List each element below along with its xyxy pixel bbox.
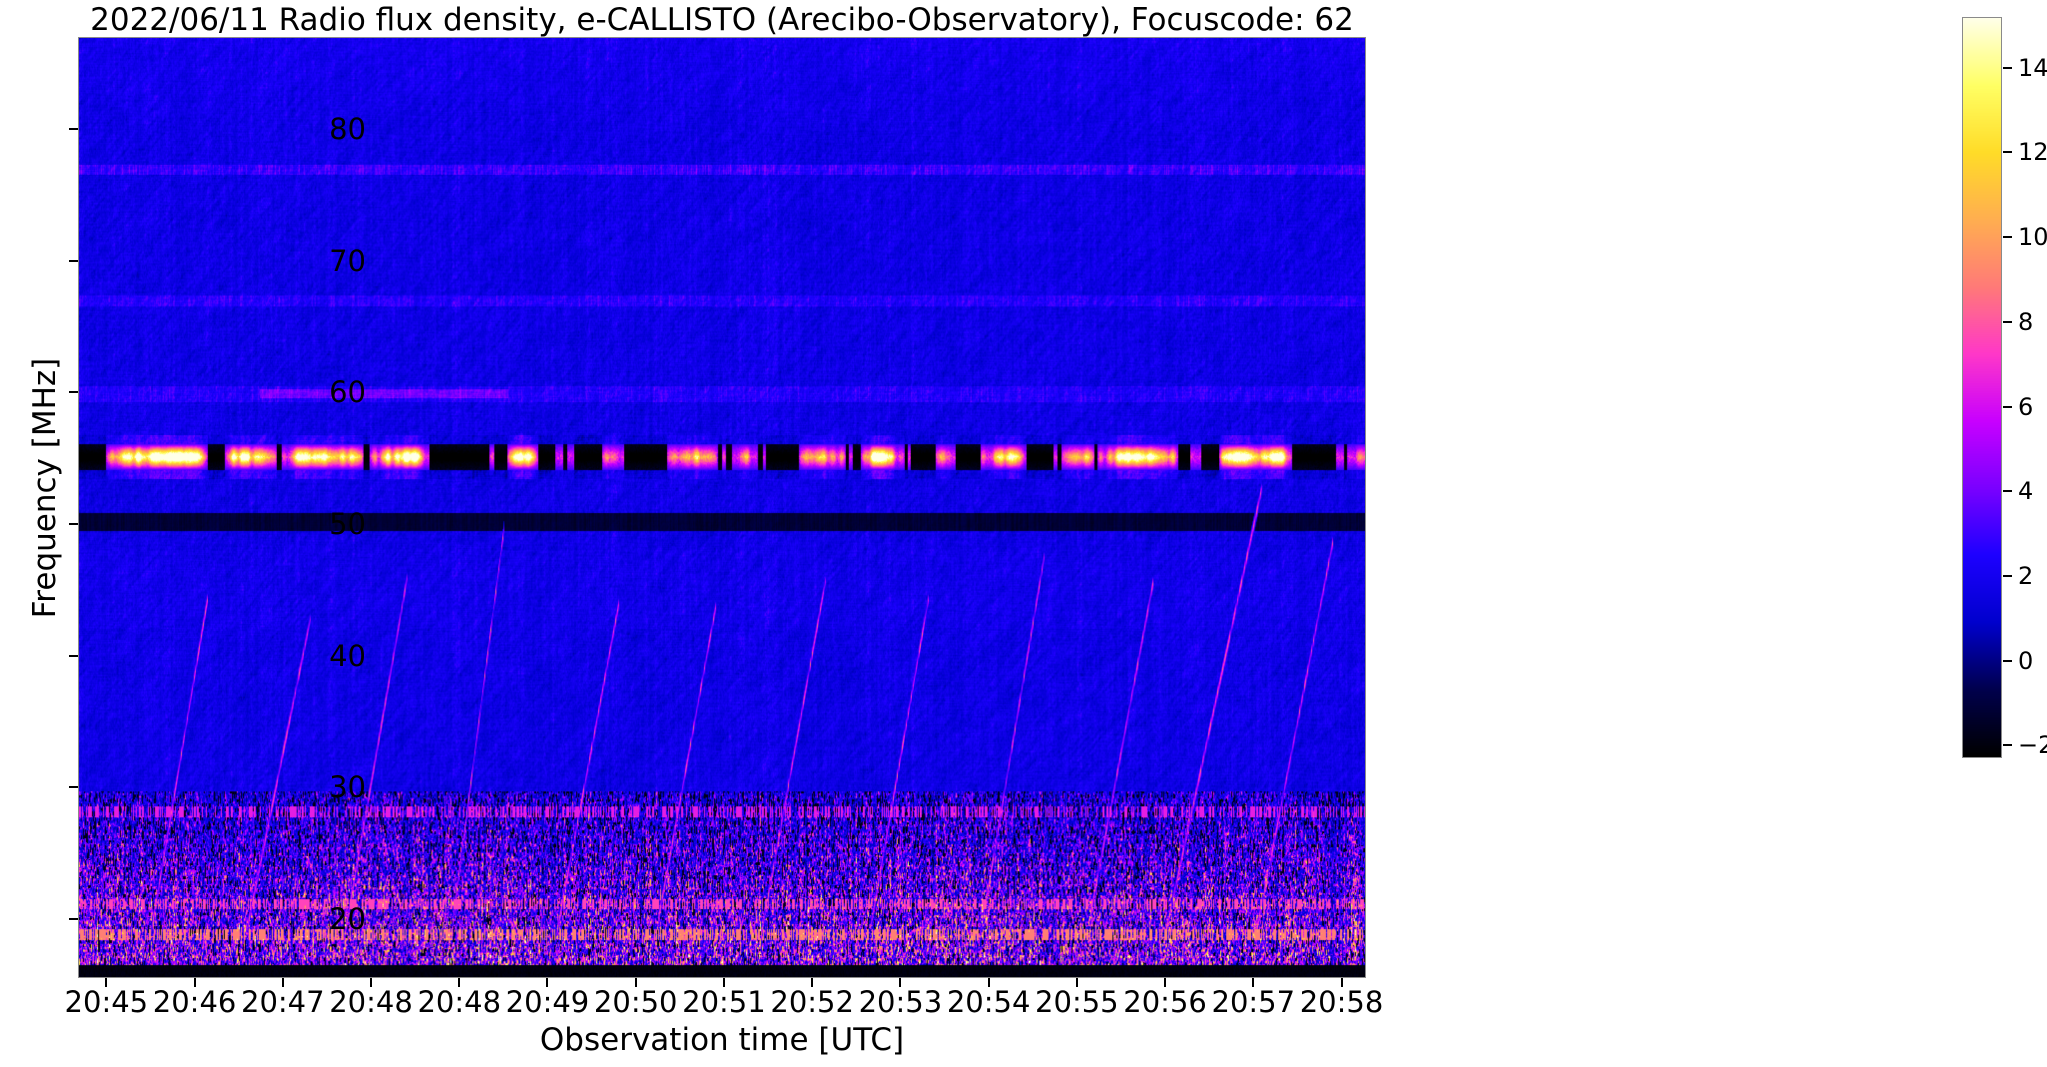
x-axis-tick-label: 20:52 <box>770 985 854 1019</box>
x-axis-tick-mark <box>723 978 725 987</box>
y-axis-tick-mark <box>69 655 78 657</box>
colorbar-tick-label: 14 <box>2018 54 2047 82</box>
x-axis-tick-label: 20:54 <box>947 985 1031 1019</box>
x-axis-tick-label: 20:57 <box>1212 985 1296 1019</box>
y-axis-label: Frequency [MHz] <box>27 0 63 988</box>
x-axis-tick-mark <box>988 978 990 987</box>
x-axis-label: Observation time [UTC] <box>78 1022 1366 1058</box>
spectrogram-figure: 2022/06/11 Radio flux density, e-CALLIST… <box>0 0 2047 1067</box>
x-axis-tick-label: 20:58 <box>1300 985 1384 1019</box>
colorbar-tick-mark <box>2003 744 2012 746</box>
colorbar-tick-mark <box>2003 490 2012 492</box>
colorbar-tick-label: 4 <box>2018 477 2033 505</box>
y-axis-tick-label: 40 <box>329 639 366 673</box>
x-axis-tick-label: 20:55 <box>1035 985 1119 1019</box>
figure-title: 2022/06/11 Radio flux density, e-CALLIST… <box>0 2 1444 38</box>
colorbar-tick-label: 0 <box>2018 647 2033 675</box>
x-axis-tick-mark <box>1341 978 1343 987</box>
x-axis-tick-mark <box>811 978 813 987</box>
y-axis-tick-label: 80 <box>329 112 366 146</box>
x-axis-tick-mark <box>635 978 637 987</box>
x-axis-tick-mark <box>546 978 548 987</box>
colorbar-tick-label: 2 <box>2018 562 2033 590</box>
x-axis-tick-label: 20:49 <box>506 985 590 1019</box>
colorbar: −202468101214 <box>1962 17 2002 758</box>
y-axis-tick-label: 60 <box>329 375 366 409</box>
colorbar-tick-label: −2 <box>2018 731 2047 759</box>
y-axis-tick-label: 50 <box>329 507 366 541</box>
colorbar-tick-label: 10 <box>2018 223 2047 251</box>
colorbar-tick-label: 6 <box>2018 393 2033 421</box>
x-axis-tick-label: 20:48 <box>329 985 413 1019</box>
x-axis-tick-label: 20:48 <box>417 985 501 1019</box>
x-axis-tick-mark <box>105 978 107 987</box>
colorbar-tick-mark <box>2003 151 2012 153</box>
colorbar-gradient <box>1962 17 2002 758</box>
spectrogram-plot-area[interactable] <box>78 37 1366 978</box>
colorbar-tick-mark <box>2003 575 2012 577</box>
y-axis-tick-mark <box>69 391 78 393</box>
y-axis-tick-label: 70 <box>329 244 366 278</box>
colorbar-tick-mark <box>2003 660 2012 662</box>
y-axis-tick-mark <box>69 918 78 920</box>
x-axis-tick-label: 20:56 <box>1123 985 1207 1019</box>
colorbar-tick-mark <box>2003 406 2012 408</box>
x-axis-tick-mark <box>282 978 284 987</box>
x-axis-tick-label: 20:47 <box>241 985 325 1019</box>
y-axis-tick-label: 20 <box>329 902 366 936</box>
x-axis-tick-mark <box>1252 978 1254 987</box>
spectrogram-image <box>79 38 1365 977</box>
x-axis-tick-label: 20:53 <box>859 985 943 1019</box>
x-axis-tick-mark <box>370 978 372 987</box>
colorbar-tick-mark <box>2003 321 2012 323</box>
x-axis-tick-mark <box>1164 978 1166 987</box>
x-axis-tick-label: 20:46 <box>153 985 237 1019</box>
x-axis-tick-label: 20:45 <box>65 985 149 1019</box>
x-axis-tick-mark <box>194 978 196 987</box>
colorbar-tick-mark <box>2003 67 2012 69</box>
x-axis-tick-label: 20:50 <box>594 985 678 1019</box>
y-axis-tick-mark <box>69 523 78 525</box>
colorbar-tick-label: 12 <box>2018 138 2047 166</box>
y-axis-tick-mark <box>69 128 78 130</box>
x-axis-tick-mark <box>1076 978 1078 987</box>
x-axis-tick-mark <box>899 978 901 987</box>
colorbar-tick-label: 8 <box>2018 308 2033 336</box>
y-axis-tick-label: 30 <box>329 770 366 804</box>
y-axis-tick-mark <box>69 786 78 788</box>
x-axis-tick-label: 20:51 <box>682 985 766 1019</box>
colorbar-tick-mark <box>2003 236 2012 238</box>
x-axis-tick-mark <box>458 978 460 987</box>
y-axis-tick-mark <box>69 260 78 262</box>
